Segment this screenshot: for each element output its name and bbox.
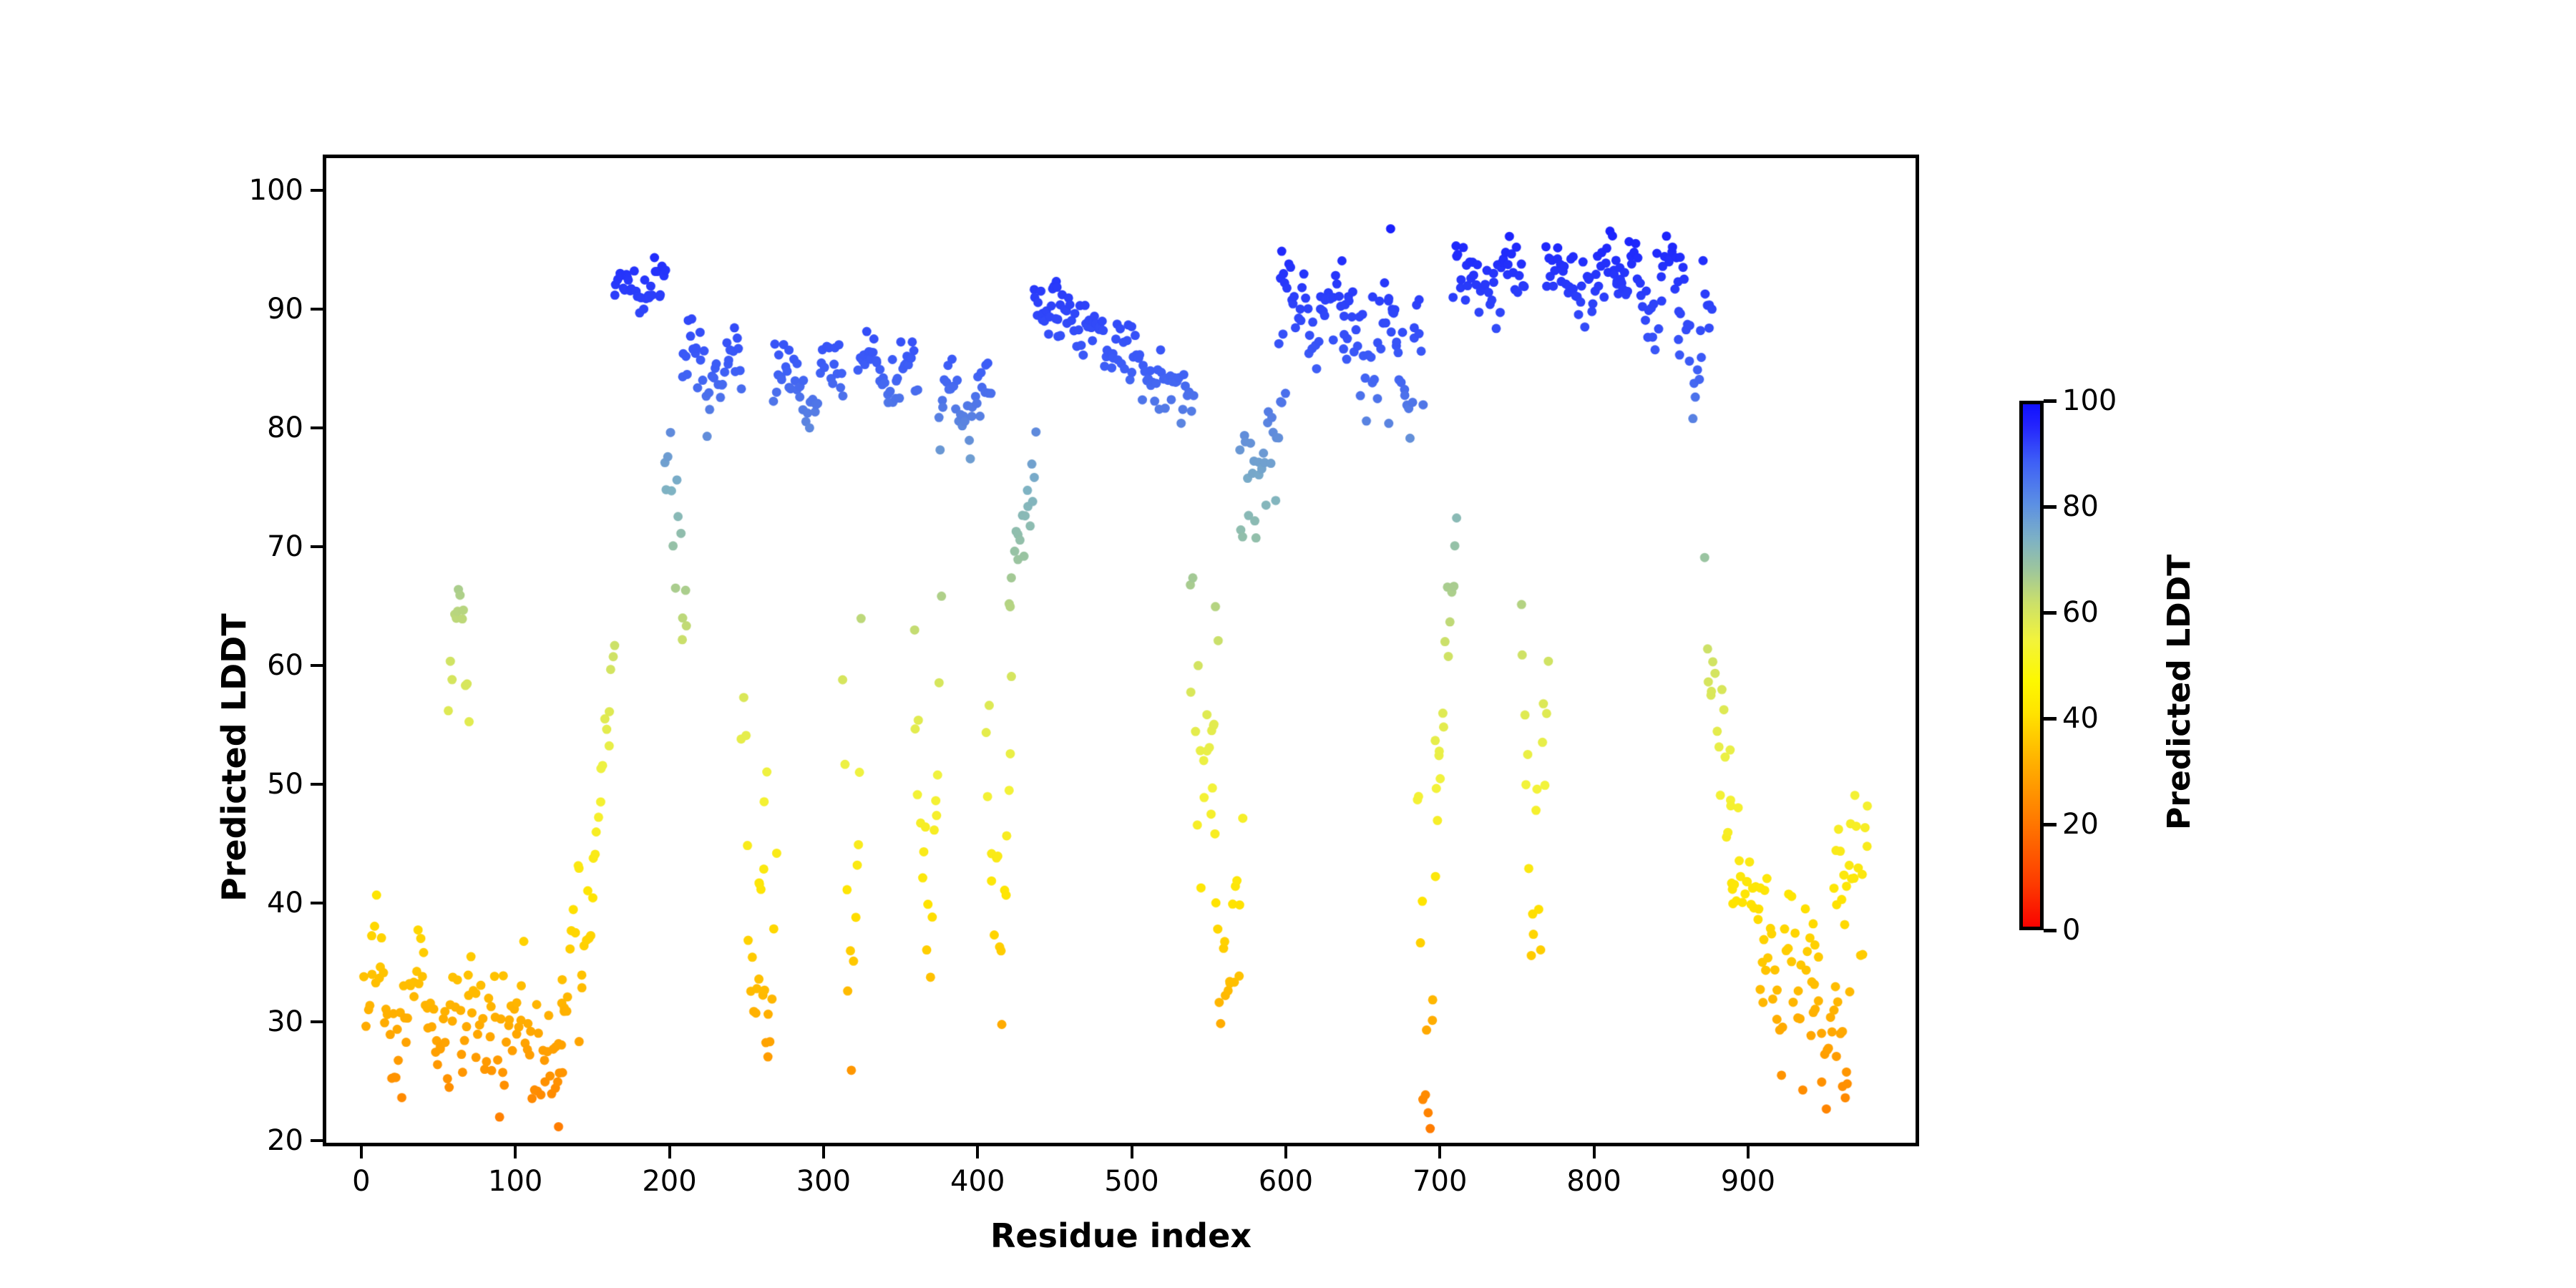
y-tick-mark <box>311 783 323 786</box>
colorbar <box>2019 401 2044 930</box>
x-tick-mark <box>976 1146 979 1158</box>
colorbar-label: Predicted LDDT <box>2161 555 2197 830</box>
x-tick-mark <box>1284 1146 1287 1158</box>
scatter-plot <box>326 158 1916 1143</box>
y-tick-mark <box>311 545 323 548</box>
colorbar-tick-mark <box>2044 611 2057 615</box>
x-tick-mark <box>822 1146 825 1158</box>
colorbar-tick-label: 0 <box>2062 914 2080 947</box>
figure-canvas: 0100200300400500600700800900203040506070… <box>0 0 2576 1288</box>
y-tick-label: 70 <box>267 530 303 563</box>
colorbar-gradient <box>2019 401 2044 930</box>
x-tick-label: 800 <box>1566 1165 1621 1198</box>
x-tick-label: 400 <box>950 1165 1005 1198</box>
x-tick-label: 900 <box>1721 1165 1775 1198</box>
x-tick-mark <box>1747 1146 1750 1158</box>
y-axis-label: Predicted LDDT <box>215 613 253 902</box>
colorbar-tick-label: 100 <box>2062 384 2117 417</box>
x-axis-label: Residue index <box>323 1216 1919 1255</box>
y-tick-mark <box>311 1139 323 1142</box>
plot-area <box>323 155 1919 1146</box>
y-tick-mark <box>311 189 323 192</box>
y-tick-label: 30 <box>267 1005 303 1038</box>
colorbar-tick-label: 60 <box>2062 596 2099 629</box>
colorbar-tick-mark <box>2044 399 2057 403</box>
y-tick-label: 40 <box>267 887 303 919</box>
colorbar-tick-mark <box>2044 505 2057 509</box>
y-tick-label: 90 <box>267 293 303 326</box>
y-tick-label: 50 <box>267 768 303 801</box>
x-tick-label: 100 <box>488 1165 542 1198</box>
x-tick-mark <box>668 1146 671 1158</box>
colorbar-tick-mark <box>2044 823 2057 826</box>
colorbar-tick-mark <box>2044 929 2057 932</box>
y-tick-label: 100 <box>249 174 303 207</box>
x-tick-label: 600 <box>1259 1165 1313 1198</box>
x-tick-label: 200 <box>642 1165 696 1198</box>
y-tick-label: 20 <box>267 1124 303 1157</box>
y-tick-label: 60 <box>267 649 303 682</box>
x-tick-mark <box>514 1146 517 1158</box>
x-tick-mark <box>360 1146 363 1158</box>
y-tick-mark <box>311 664 323 667</box>
x-tick-mark <box>1438 1146 1441 1158</box>
x-tick-mark <box>1593 1146 1596 1158</box>
x-tick-label: 500 <box>1104 1165 1158 1198</box>
colorbar-tick-label: 20 <box>2062 808 2099 841</box>
y-tick-mark <box>311 902 323 904</box>
y-tick-mark <box>311 426 323 429</box>
y-tick-label: 80 <box>267 411 303 444</box>
x-tick-mark <box>1131 1146 1133 1158</box>
y-tick-mark <box>311 308 323 311</box>
y-tick-mark <box>311 1020 323 1023</box>
colorbar-tick-label: 80 <box>2062 490 2099 523</box>
x-tick-label: 300 <box>796 1165 851 1198</box>
colorbar-tick-mark <box>2044 717 2057 721</box>
colorbar-tick-label: 40 <box>2062 702 2099 735</box>
x-tick-label: 700 <box>1413 1165 1467 1198</box>
x-tick-label: 0 <box>352 1165 370 1198</box>
